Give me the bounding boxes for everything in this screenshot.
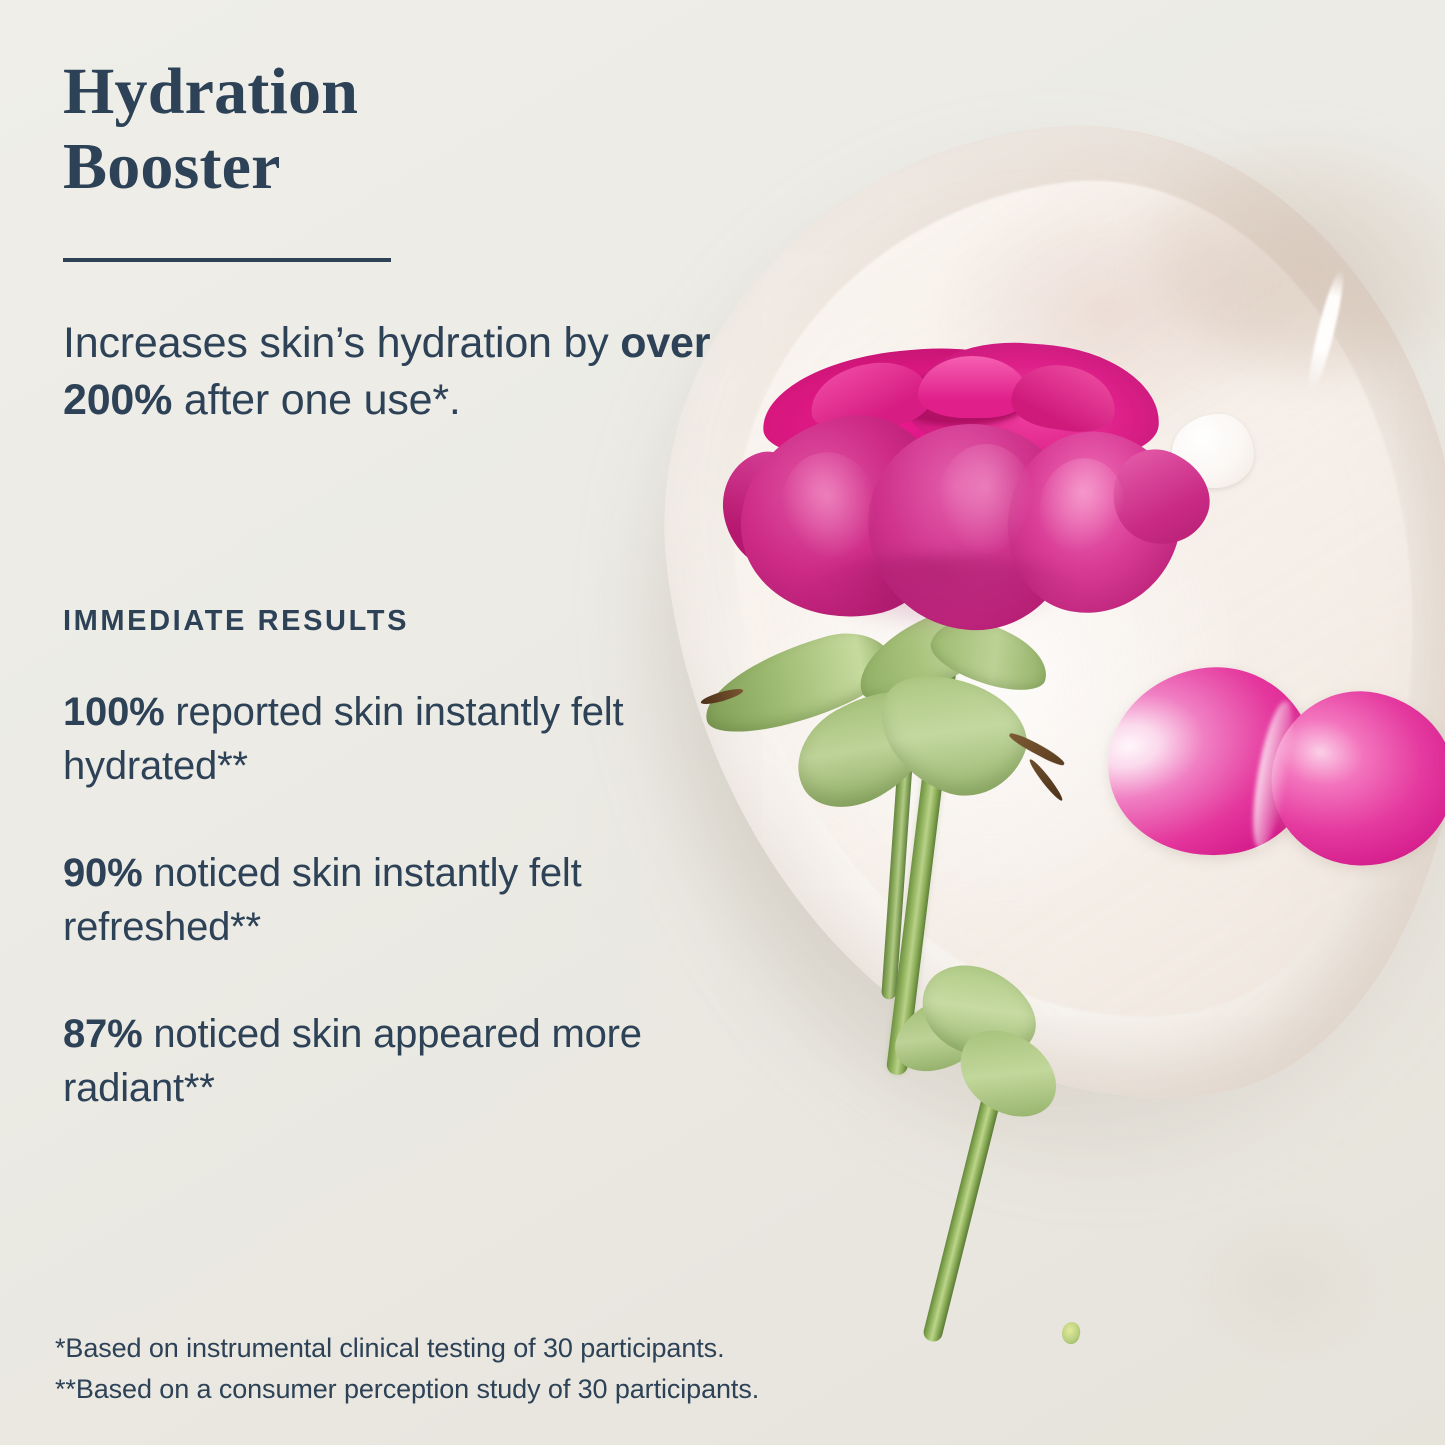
stat-value: 87% — [63, 1012, 142, 1056]
stat-line: 90% noticed skin instantly felt refreshe… — [63, 846, 763, 955]
primary-claim-suffix: after one use*. — [172, 376, 460, 424]
primary-claim-prefix: Increases skin’s hydration by — [63, 319, 620, 367]
primary-claim: Increases skin’s hydration by over 200% … — [63, 315, 783, 429]
results-list: 100% reported skin instantly felt hydrat… — [63, 685, 763, 1167]
results-section-heading: IMMEDIATE RESULTS — [63, 605, 409, 638]
list-item: 90% noticed skin instantly felt refreshe… — [63, 846, 763, 955]
claim-copy: Hydration Booster Increases skin’s hydra… — [0, 0, 1445, 1445]
page-title-line-2: Booster — [63, 130, 281, 203]
footnote-single-star: *Based on instrumental clinical testing … — [55, 1328, 1015, 1369]
product-claim-graphic: Hydration Booster Increases skin’s hydra… — [0, 0, 1445, 1445]
stat-line: 100% reported skin instantly felt hydrat… — [63, 685, 763, 794]
page-title: Hydration Booster — [63, 55, 703, 204]
footnotes: *Based on instrumental clinical testing … — [55, 1328, 1015, 1410]
stat-value: 90% — [63, 851, 142, 895]
footnote-double-star: **Based on a consumer perception study o… — [55, 1369, 1015, 1410]
stat-line: 87% noticed skin appeared more radiant** — [63, 1007, 763, 1116]
title-divider — [63, 258, 391, 262]
stat-value: 100% — [63, 690, 165, 734]
stat-text: noticed skin appeared more radiant** — [63, 1012, 642, 1110]
list-item: 100% reported skin instantly felt hydrat… — [63, 685, 763, 794]
page-title-line-1: Hydration — [63, 55, 358, 128]
list-item: 87% noticed skin appeared more radiant** — [63, 1007, 763, 1116]
